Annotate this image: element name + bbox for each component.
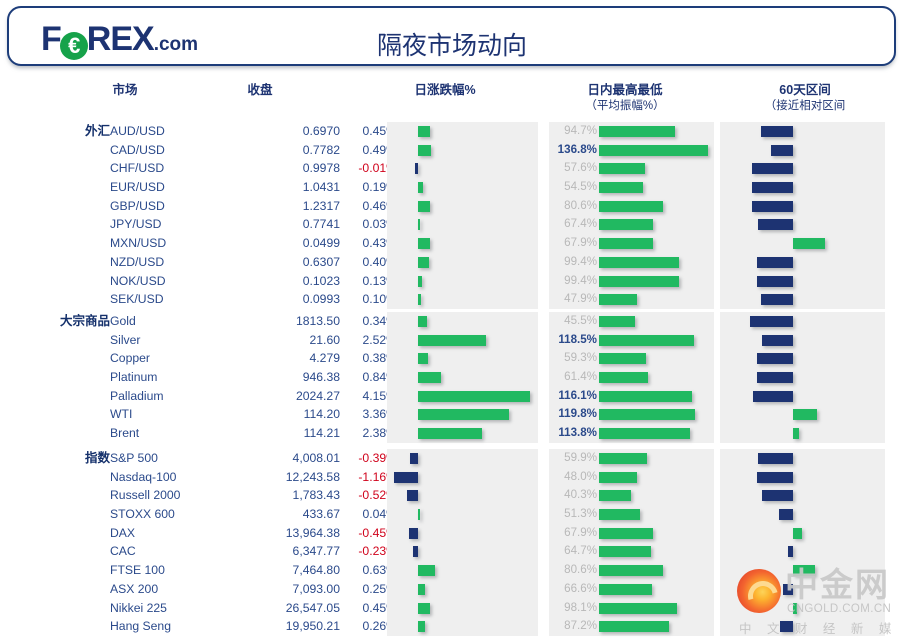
intraday-bar (599, 353, 646, 364)
intraday-percent-label: 59.3% (551, 349, 597, 368)
intraday-bar (599, 219, 653, 230)
intraday-percent-label: 94.7% (551, 122, 597, 141)
intraday-percent-label: 67.9% (551, 234, 597, 253)
change-bar-row (387, 424, 538, 443)
range-bar-row (720, 387, 885, 406)
change-bar (415, 163, 418, 174)
intraday-bar (599, 257, 679, 268)
intraday-percent-label: 113.8% (551, 424, 597, 443)
intraday-bar (599, 276, 679, 287)
change-bar (418, 621, 425, 632)
intraday-bar-row: 47.9% (549, 290, 714, 309)
range-bar-row (720, 312, 885, 331)
change-bar (409, 528, 418, 539)
daily-change-chart (387, 449, 538, 636)
range-bar (780, 621, 793, 632)
close-value: 7,464.80 (230, 561, 340, 580)
intraday-bar (599, 335, 694, 346)
market-section: 外汇AUD/USD0.69700.45%CAD/USD0.77820.49%CH… (0, 122, 903, 309)
change-bar (418, 257, 429, 268)
daily-change-chart (387, 312, 538, 443)
intraday-range-chart: 59.9%48.0%40.3%51.3%67.9%64.7%80.6%66.6%… (549, 449, 714, 636)
table-row[interactable]: NZD/USD0.63070.40% (110, 253, 387, 272)
change-bar (418, 372, 441, 383)
intraday-bar (599, 428, 690, 439)
intraday-percent-label: 45.5% (551, 312, 597, 331)
table-row[interactable]: STOXX 600433.670.04% (110, 505, 387, 524)
range-bar-row (720, 542, 885, 561)
intraday-range-chart: 45.5%118.5%59.3%61.4%116.1%119.8%113.8% (549, 312, 714, 443)
range-bar (757, 257, 793, 268)
range-bar (757, 372, 793, 383)
change-bar (418, 335, 486, 346)
change-bar (418, 409, 509, 420)
table-row[interactable]: SEK/USD0.09930.10% (110, 290, 387, 309)
change-bar-row (387, 505, 538, 524)
change-bar (418, 126, 430, 137)
change-bar-row (387, 122, 538, 141)
intraday-bar-row: 119.8% (549, 405, 714, 424)
change-bar-row (387, 215, 538, 234)
intraday-bar (599, 391, 692, 402)
close-value: 12,243.58 (230, 468, 340, 487)
close-value: 0.1023 (230, 272, 340, 291)
range-bar-row (720, 599, 885, 618)
intraday-bar-row: 59.9% (549, 449, 714, 468)
intraday-percent-label: 40.3% (551, 486, 597, 505)
intraday-bar-row: 67.9% (549, 234, 714, 253)
sixty-day-range-chart (720, 449, 885, 636)
change-bar-row (387, 542, 538, 561)
table-row[interactable]: Brent114.212.38% (110, 424, 387, 443)
table-row[interactable]: CAC6,347.77-0.23% (110, 542, 387, 561)
change-bar-row (387, 290, 538, 309)
close-value: 0.0993 (230, 290, 340, 309)
table-row[interactable]: Copper4.2790.38% (110, 349, 387, 368)
change-bar (418, 294, 421, 305)
range-bar-row (720, 215, 885, 234)
change-bar (418, 219, 420, 230)
column-header-market: 市场 (60, 82, 190, 98)
section-rows: Gold1813.500.34%Silver21.602.52%Copper4.… (110, 312, 387, 443)
change-bar-row (387, 468, 538, 487)
intraday-percent-label: 57.6% (551, 159, 597, 178)
change-bar-row (387, 178, 538, 197)
close-value: 1813.50 (230, 312, 340, 331)
intraday-bar-row: 61.4% (549, 368, 714, 387)
intraday-bar (599, 163, 645, 174)
range-bar (750, 316, 793, 327)
column-headers: 市场 收盘 日涨跌幅% 日内最高最低 （平均振幅%） 60天区间 （接近相对区间 (0, 76, 903, 118)
close-value: 7,093.00 (230, 580, 340, 599)
range-bar-row (720, 331, 885, 350)
table-row[interactable]: Nasdaq-10012,243.58-1.16% (110, 468, 387, 487)
range-bar-row (720, 178, 885, 197)
table-row[interactable]: ASX 2007,093.000.25% (110, 580, 387, 599)
intraday-bar (599, 584, 652, 595)
range-bar (771, 145, 793, 156)
range-bar-row (720, 234, 885, 253)
change-bar (394, 472, 418, 483)
intraday-bar-row: 99.4% (549, 253, 714, 272)
table-row[interactable]: Platinum946.380.84% (110, 368, 387, 387)
change-bar-row (387, 197, 538, 216)
change-bar-row (387, 405, 538, 424)
intraday-bar-row: 118.5% (549, 331, 714, 350)
table-row[interactable]: NOK/USD0.10230.13% (110, 272, 387, 291)
range-bar-row (720, 424, 885, 443)
range-bar-row (720, 368, 885, 387)
range-bar (753, 391, 793, 402)
intraday-bar-row: 45.5% (549, 312, 714, 331)
table-row[interactable]: CHF/USD0.9978-0.01% (110, 159, 387, 178)
intraday-bar-row: 66.6% (549, 580, 714, 599)
intraday-percent-label: 59.9% (551, 449, 597, 468)
intraday-bar (599, 238, 653, 249)
daily-change-chart (387, 122, 538, 309)
close-value: 114.20 (230, 405, 340, 424)
table-row[interactable]: CAD/USD0.77820.49% (110, 141, 387, 160)
intraday-bar-row: 87.2% (549, 617, 714, 636)
change-bar (418, 145, 431, 156)
change-bar-row (387, 253, 538, 272)
close-value: 4.279 (230, 349, 340, 368)
intraday-bar (599, 145, 708, 156)
change-bar-row (387, 272, 538, 291)
table-row[interactable]: DAX13,964.38-0.45% (110, 524, 387, 543)
intraday-bar (599, 509, 640, 520)
close-value: 0.7741 (230, 215, 340, 234)
forex-logo: F€REX.com (41, 22, 198, 62)
intraday-percent-label: 99.4% (551, 253, 597, 272)
change-bar (418, 603, 430, 614)
close-value: 2024.27 (230, 387, 340, 406)
intraday-percent-label: 66.6% (551, 580, 597, 599)
intraday-bar (599, 546, 651, 557)
range-bar (762, 490, 794, 501)
close-value: 1.2317 (230, 197, 340, 216)
logo-text-rex: REX (87, 20, 154, 58)
change-bar (418, 276, 422, 287)
intraday-bar (599, 409, 695, 420)
intraday-bar-row: 48.0% (549, 468, 714, 487)
intraday-bar-row: 57.6% (549, 159, 714, 178)
range-bar-row (720, 349, 885, 368)
change-bar (418, 316, 427, 327)
intraday-bar (599, 316, 635, 327)
sixty-day-range-chart (720, 312, 885, 443)
section-label: 指数 (10, 449, 110, 468)
column-header-intraday: 日内最高最低 （平均振幅%） (535, 82, 715, 114)
close-value: 433.67 (230, 505, 340, 524)
section-label: 大宗商品 (10, 312, 110, 331)
intraday-percent-label: 80.6% (551, 197, 597, 216)
change-bar (418, 238, 430, 249)
intraday-bar-row: 80.6% (549, 561, 714, 580)
range-bar-row (720, 468, 885, 487)
column-header-range-sub: （接近相对区间 (720, 98, 890, 114)
close-value: 0.6307 (230, 253, 340, 272)
intraday-bar (599, 294, 637, 305)
intraday-percent-label: 47.9% (551, 290, 597, 309)
range-bar-row (720, 505, 885, 524)
range-bar (793, 603, 797, 614)
intraday-percent-label: 67.4% (551, 215, 597, 234)
change-bar-row (387, 141, 538, 160)
range-bar (783, 584, 794, 595)
close-value: 19,950.21 (230, 617, 340, 636)
intraday-range-chart: 94.7%136.8%57.6%54.5%80.6%67.4%67.9%99.4… (549, 122, 714, 309)
change-bar-row (387, 349, 538, 368)
change-bar-row (387, 331, 538, 350)
table-row[interactable]: EUR/USD1.04310.19% (110, 178, 387, 197)
intraday-percent-label: 118.5% (551, 331, 597, 350)
intraday-percent-label: 48.0% (551, 468, 597, 487)
change-bar-row (387, 387, 538, 406)
close-value: 21.60 (230, 331, 340, 350)
range-bar (793, 238, 825, 249)
intraday-percent-label: 87.2% (551, 617, 597, 636)
market-section: 大宗商品Gold1813.500.34%Silver21.602.52%Copp… (0, 312, 903, 443)
table-row[interactable]: Palladium2024.274.15% (110, 387, 387, 406)
close-value: 4,008.01 (230, 449, 340, 468)
intraday-percent-label: 61.4% (551, 368, 597, 387)
table-row[interactable]: JPY/USD0.77410.03% (110, 215, 387, 234)
sixty-day-range-chart (720, 122, 885, 309)
market-section: 指数S&P 5004,008.01-0.39%Nasdaq-10012,243.… (0, 449, 903, 636)
table-row[interactable]: WTI114.203.36% (110, 405, 387, 424)
column-header-intraday-sub: （平均振幅%） (535, 98, 715, 114)
intraday-bar-row: 67.9% (549, 524, 714, 543)
close-value: 0.6970 (230, 122, 340, 141)
change-bar (407, 490, 418, 501)
intraday-bar (599, 201, 663, 212)
table-row[interactable]: Nikkei 22526,547.050.45% (110, 599, 387, 618)
intraday-bar (599, 565, 663, 576)
change-bar (418, 391, 530, 402)
section-label: 外汇 (10, 122, 110, 141)
column-header-range: 60天区间 （接近相对区间 (720, 82, 890, 114)
table-row[interactable]: AUD/USD0.69700.45% (110, 122, 387, 141)
table-row[interactable]: Gold1813.500.34% (110, 312, 387, 331)
section-rows: AUD/USD0.69700.45%CAD/USD0.77820.49%CHF/… (110, 122, 387, 309)
change-bar-row (387, 486, 538, 505)
range-bar-row (720, 561, 885, 580)
range-bar-row (720, 141, 885, 160)
range-bar (752, 163, 793, 174)
range-bar (752, 201, 793, 212)
range-bar-row (720, 197, 885, 216)
change-bar (418, 353, 428, 364)
intraday-bar-row: 59.3% (549, 349, 714, 368)
range-bar-row (720, 617, 885, 636)
intraday-bar-row: 80.6% (549, 197, 714, 216)
section-rows: S&P 5004,008.01-0.39%Nasdaq-10012,243.58… (110, 449, 387, 636)
column-header-range-main: 60天区间 (779, 83, 830, 97)
range-bar-row (720, 486, 885, 505)
intraday-bar-row: 51.3% (549, 505, 714, 524)
intraday-bar-row: 94.7% (549, 122, 714, 141)
intraday-bar (599, 453, 647, 464)
change-bar-row (387, 449, 538, 468)
intraday-bar (599, 603, 677, 614)
change-bar (418, 584, 425, 595)
column-header-change: 日涨跌幅% (355, 82, 535, 98)
intraday-percent-label: 51.3% (551, 505, 597, 524)
close-value: 946.38 (230, 368, 340, 387)
range-bar (779, 509, 793, 520)
logo-text-f: F (41, 20, 61, 58)
intraday-percent-label: 80.6% (551, 561, 597, 580)
intraday-bar (599, 621, 669, 632)
intraday-percent-label: 64.7% (551, 542, 597, 561)
range-bar (793, 409, 817, 420)
close-value: 26,547.05 (230, 599, 340, 618)
range-bar (757, 276, 793, 287)
intraday-percent-label: 119.8% (551, 405, 597, 424)
intraday-bar-row: 116.1% (549, 387, 714, 406)
intraday-percent-label: 67.9% (551, 524, 597, 543)
intraday-percent-label: 99.4% (551, 272, 597, 291)
intraday-bar-row: 40.3% (549, 486, 714, 505)
range-bar (757, 472, 793, 483)
intraday-bar-row: 98.1% (549, 599, 714, 618)
intraday-percent-label: 98.1% (551, 599, 597, 618)
range-bar (793, 528, 802, 539)
range-bar (762, 335, 794, 346)
euro-circle-icon: € (60, 32, 88, 60)
change-bar (418, 509, 420, 520)
intraday-bar (599, 372, 648, 383)
change-bar-row (387, 159, 538, 178)
intraday-bar (599, 472, 637, 483)
intraday-bar-row: 64.7% (549, 542, 714, 561)
change-bar-row (387, 234, 538, 253)
close-value: 0.9978 (230, 159, 340, 178)
range-bar (761, 294, 793, 305)
range-bar-row (720, 290, 885, 309)
range-bar-row (720, 524, 885, 543)
table-row[interactable]: Hang Seng19,950.210.26% (110, 617, 387, 636)
close-value: 114.21 (230, 424, 340, 443)
range-bar-row (720, 405, 885, 424)
column-header-intraday-main: 日内最高最低 (587, 83, 662, 97)
table-row[interactable]: S&P 5004,008.01-0.39% (110, 449, 387, 468)
range-bar (761, 126, 793, 137)
change-bar (410, 453, 418, 464)
change-bar-row (387, 617, 538, 636)
column-header-close: 收盘 (205, 82, 315, 98)
change-bar (418, 428, 482, 439)
close-value: 6,347.77 (230, 542, 340, 561)
range-bar-row (720, 272, 885, 291)
table-row[interactable]: Russell 20001,783.43-0.52% (110, 486, 387, 505)
range-bar (793, 428, 799, 439)
change-bar (418, 201, 430, 212)
intraday-bar-row: 99.4% (549, 272, 714, 291)
close-value: 13,964.38 (230, 524, 340, 543)
change-bar-row (387, 368, 538, 387)
intraday-bar-row: 54.5% (549, 178, 714, 197)
change-bar-row (387, 312, 538, 331)
table-row[interactable]: MXN/USD0.04990.43% (110, 234, 387, 253)
change-bar-row (387, 599, 538, 618)
intraday-bar (599, 528, 653, 539)
range-bar (758, 453, 793, 464)
range-bar (788, 546, 793, 557)
change-bar (413, 546, 418, 557)
range-bar-row (720, 580, 885, 599)
change-bar (418, 565, 435, 576)
range-bar-row (720, 122, 885, 141)
intraday-percent-label: 54.5% (551, 178, 597, 197)
intraday-bar (599, 182, 643, 193)
intraday-bar (599, 126, 675, 137)
change-bar-row (387, 524, 538, 543)
intraday-bar-row: 113.8% (549, 424, 714, 443)
header-bar: F€REX.com 隔夜市场动向 (7, 6, 896, 66)
change-bar (418, 182, 423, 193)
table-row[interactable]: GBP/USD1.23170.46% (110, 197, 387, 216)
table-row[interactable]: FTSE 1007,464.800.63% (110, 561, 387, 580)
intraday-bar (599, 490, 631, 501)
logo-dotcom: .com (154, 34, 198, 55)
close-value: 1.0431 (230, 178, 340, 197)
change-bar-row (387, 561, 538, 580)
intraday-percent-label: 116.1% (551, 387, 597, 406)
change-bar-row (387, 580, 538, 599)
table-row[interactable]: Silver21.602.52% (110, 331, 387, 350)
intraday-bar-row: 136.8% (549, 141, 714, 160)
page-title: 隔夜市场动向 (377, 26, 527, 62)
range-bar (752, 182, 793, 193)
close-value: 1,783.43 (230, 486, 340, 505)
range-bar-row (720, 159, 885, 178)
range-bar (757, 353, 793, 364)
range-bar (793, 565, 815, 576)
range-bar-row (720, 449, 885, 468)
range-bar (758, 219, 793, 230)
close-value: 0.0499 (230, 234, 340, 253)
range-bar-row (720, 253, 885, 272)
intraday-bar-row: 67.4% (549, 215, 714, 234)
close-value: 0.7782 (230, 141, 340, 160)
intraday-percent-label: 136.8% (551, 141, 597, 160)
